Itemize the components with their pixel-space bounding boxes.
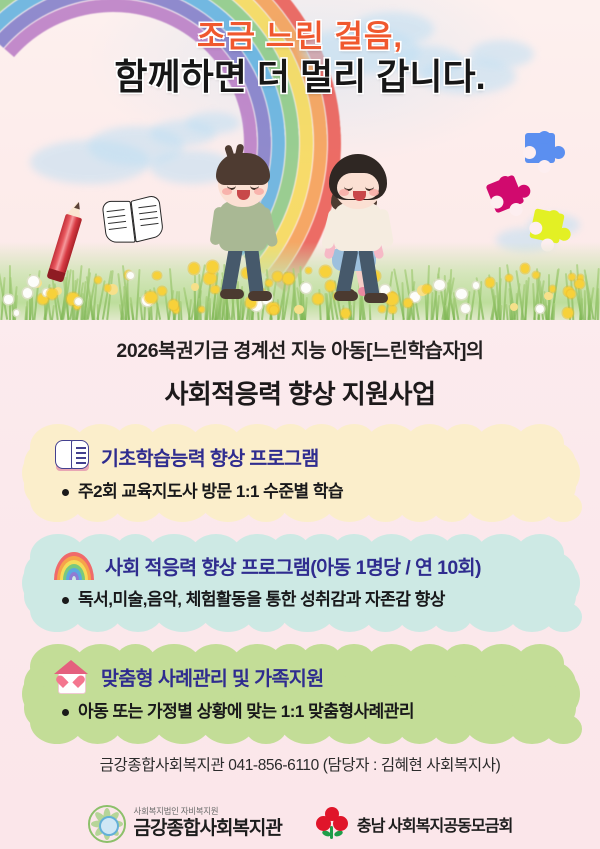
contact-info: 금강종합사회복지관 041-856-6110 (담당자 : 김혜현 사회복지사) [0, 753, 600, 775]
open-book-icon [54, 440, 90, 472]
program-1-bullet: 주2회 교육지도사 방문 1:1 수준별 학습 [54, 481, 552, 502]
logo-corporation-name: 사회복지법인 자비복지원 [134, 807, 282, 816]
program-3-bullet-text: 아동 또는 가정별 상황에 맞는 1:1 맞춤형사례관리 [78, 701, 414, 722]
open-book-illustration [102, 196, 165, 247]
program-3-heading: 맞춤형 사례관리 및 가족지원 [101, 662, 324, 691]
footer-logos: 사회복지법인 자비복지원 금강종합사회복지관 충남 사회복지공동모금회 [0, 798, 600, 849]
program-1-heading: 기초학습능력 향상 프로그램 [101, 442, 319, 471]
program-3-bullet: 아동 또는 가정별 상황에 맞는 1:1 맞춤형사례관리 [54, 701, 552, 722]
bullet-dot [62, 709, 69, 716]
headline: 조금 느린 걸음, 함께하면 더 멀리 갑니다. [0, 20, 600, 98]
flower-circle-emblem-icon [88, 805, 126, 843]
bullet-dot [62, 597, 69, 604]
program-2-bullet: 독서,미술,음악, 체험활동을 통한 성취감과 자존감 향상 [54, 589, 552, 610]
headline-line-2: 함께하면 더 멀리 갑니다. [0, 57, 600, 97]
program-section-2: 사회 적응력 향상 프로그램(아동 1명당 / 연 10회) 독서,미술,음악,… [24, 534, 576, 632]
logo-organization-name: 금강종합사회복지관 [134, 818, 282, 840]
puzzle-piece-blue [521, 129, 559, 167]
title-line-1: 2026복권기금 경계선 지능 아동[느린학습자]의 [0, 334, 600, 363]
program-1-bullet-text: 주2회 교육지도사 방문 1:1 수준별 학습 [78, 481, 343, 502]
program-2-bullet-text: 독서,미술,음악, 체험활동을 통한 성취감과 자존감 향상 [78, 589, 445, 610]
chungnam-logo-text: 충남 사회복지공동모금회 [357, 812, 513, 836]
hero-illustration: 조금 느린 걸음, 함께하면 더 멀리 갑니다. [0, 0, 600, 320]
headline-line-1: 조금 느린 걸음, [0, 20, 600, 53]
fruit-of-love-icon [316, 807, 349, 841]
program-section-1: 기초학습능력 향상 프로그램 주2회 교육지도사 방문 1:1 수준별 학습 [24, 424, 576, 522]
title-line-2: 사회적응력 향상 지원사업 [0, 374, 600, 411]
page-title: 2026복권기금 경계선 지능 아동[느린학습자]의 사회적응력 향상 지원사업 [0, 334, 600, 411]
family-of-three-walking [203, 137, 399, 319]
program-2-heading: 사회 적응력 향상 프로그램(아동 1명당 / 연 10회) [105, 551, 481, 580]
program-section-3: 맞춤형 사례관리 및 가족지원 아동 또는 가정별 상황에 맞는 1:1 맞춤형… [24, 644, 576, 744]
logo-geumgang: 사회복지법인 자비복지원 금강종합사회복지관 [88, 805, 282, 843]
bullet-dot [62, 489, 69, 496]
logo-chungnam-community-chest: 충남 사회복지공동모금회 [316, 807, 513, 841]
poster: 조금 느린 걸음, 함께하면 더 멀리 갑니다. 2026복권기금 경계선 지능… [0, 0, 600, 849]
rainbow-icon [54, 550, 94, 580]
house-heart-icon [54, 660, 90, 692]
